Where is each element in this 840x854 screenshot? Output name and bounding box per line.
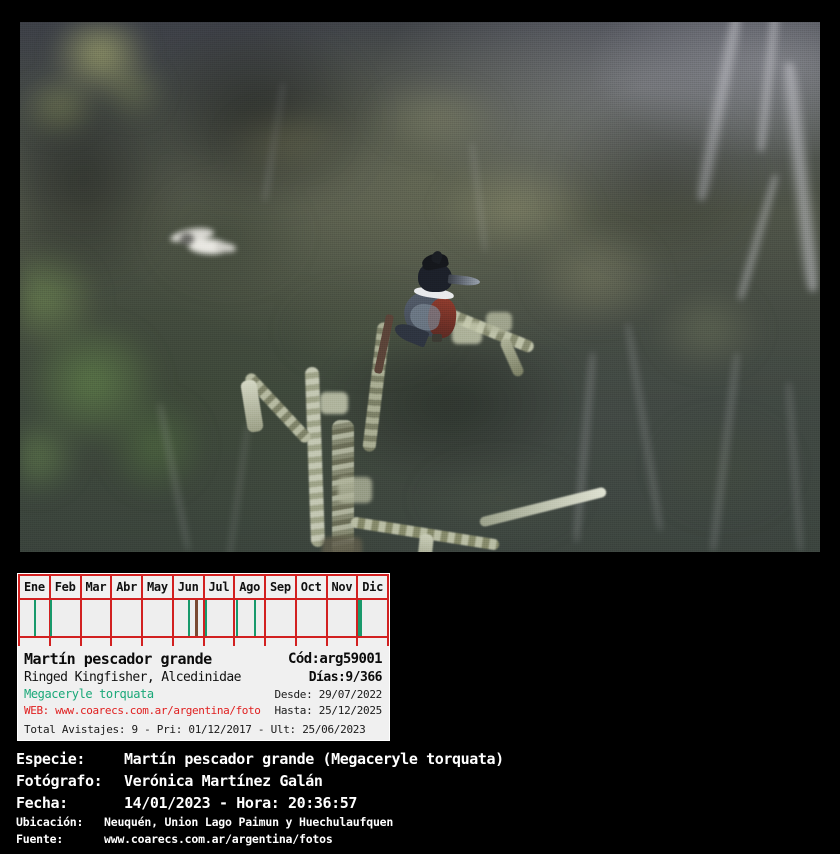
range-hasta: Hasta: 25/12/2025: [275, 703, 382, 719]
month-label-jun: Jun: [174, 576, 205, 598]
sighting-tick-jun-2: [188, 600, 190, 636]
species-days-count: Días:9/366: [309, 669, 382, 686]
sighting-tick-ago-6: [254, 600, 256, 636]
month-label-feb: Feb: [51, 576, 82, 598]
species-code: Cód:arg59001: [288, 649, 382, 669]
photo-grain: [20, 22, 820, 552]
sighting-tick-jul-4: [205, 600, 207, 636]
species-english-row: Ringed Kingfisher, Alcedinidae Días:9/36…: [24, 669, 384, 686]
species-web-row: WEB: www.coarecs.com.ar/argentina/foto H…: [24, 703, 384, 719]
species-card-text: Martín pescador grande Cód:arg59001 Ring…: [18, 646, 389, 739]
calendar-month-header: Ene Feb Mar Abr May Jun Jul Ago Sep Oct …: [18, 574, 389, 600]
species-web-link[interactable]: WEB: www.coarecs.com.ar/argentina/foto: [24, 703, 260, 719]
fuente-label: Fuente:: [16, 831, 104, 848]
sighting-tick-ene-1: [50, 600, 52, 636]
photo-metadata-block: Especie: Martín pescador grande (Megacer…: [16, 748, 826, 848]
sighting-tick-marks: [18, 600, 389, 636]
species-summary-panel: Ene Feb Mar Abr May Jun Jul Ago Sep Oct …: [17, 573, 390, 741]
month-label-nov: Nov: [328, 576, 359, 598]
info-row-especie: Especie: Martín pescador grande (Megacer…: [16, 748, 826, 770]
month-label-oct: Oct: [297, 576, 328, 598]
month-label-dic: Dic: [358, 576, 389, 598]
fotografo-label: Fotógrafo:: [16, 770, 124, 792]
info-row-fotografo: Fotógrafo: Verónica Martínez Galán: [16, 770, 826, 792]
species-common-name-es: Martín pescador grande: [24, 649, 212, 669]
bird-photograph: [20, 22, 820, 552]
sighting-tick-jun-3: [195, 600, 198, 636]
info-row-fuente: Fuente: www.coarecs.com.ar/argentina/fot…: [16, 831, 826, 848]
fuente-value[interactable]: www.coarecs.com.ar/argentina/fotos: [104, 831, 826, 848]
especie-value: Martín pescador grande (Megaceryle torqu…: [124, 748, 826, 770]
info-row-ubicacion: Ubicación: Neuquén, Union Lago Paimun y …: [16, 814, 826, 831]
month-label-sep: Sep: [266, 576, 297, 598]
monthly-sightings-calendar: Ene Feb Mar Abr May Jun Jul Ago Sep Oct …: [18, 574, 389, 646]
range-desde: Desde: 29/07/2022: [275, 686, 382, 703]
species-scientific-name: Megaceryle torquata: [24, 686, 154, 703]
month-label-mar: Mar: [82, 576, 113, 598]
info-row-fecha: Fecha: 14/01/2023 - Hora: 20:36:57: [16, 792, 826, 814]
calendar-footer-grid: [18, 638, 389, 646]
species-title-row: Martín pescador grande Cód:arg59001: [24, 649, 384, 669]
fotografo-value: Verónica Martínez Galán: [124, 770, 826, 792]
month-label-may: May: [143, 576, 174, 598]
fecha-label: Fecha:: [16, 792, 124, 814]
sighting-tick-ene-0: [34, 600, 36, 636]
species-totals: Total Avistajes: 9 - Pri: 01/12/2017 - U…: [24, 719, 365, 739]
sighting-tick-dic-7: [358, 600, 362, 636]
fecha-value: 14/01/2023 - Hora: 20:36:57: [124, 792, 826, 814]
especie-label: Especie:: [16, 748, 124, 770]
sighting-tick-ago-5: [236, 600, 238, 636]
month-label-ene: Ene: [18, 576, 51, 598]
screenshot-root: Ene Feb Mar Abr May Jun Jul Ago Sep Oct …: [0, 0, 840, 854]
species-totals-row: Total Avistajes: 9 - Pri: 01/12/2017 - U…: [24, 719, 384, 739]
month-label-abr: Abr: [112, 576, 143, 598]
species-scientific-row: Megaceryle torquata Desde: 29/07/2022: [24, 686, 384, 703]
ubicacion-value: Neuquén, Union Lago Paimun y Huechulaufq…: [104, 814, 826, 831]
month-label-jul: Jul: [205, 576, 236, 598]
ubicacion-label: Ubicación:: [16, 814, 104, 831]
species-common-name-en-family: Ringed Kingfisher, Alcedinidae: [24, 669, 241, 686]
calendar-plot-area: [18, 600, 389, 638]
month-label-ago: Ago: [235, 576, 266, 598]
